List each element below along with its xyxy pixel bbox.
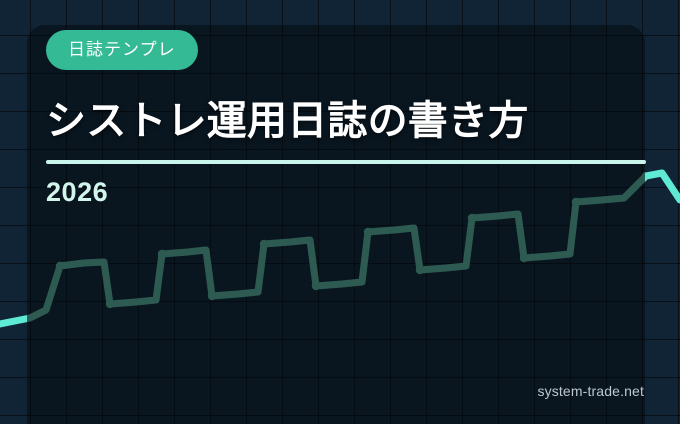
equity-vertex-marker [260, 240, 268, 248]
equity-vertex-marker [312, 282, 320, 290]
category-badge[interactable]: 日誌テンプレ [46, 30, 198, 70]
page-title: シストレ運用日誌の書き方 [46, 99, 646, 144]
equity-vertex-marker [208, 292, 216, 300]
equity-vertex-marker [106, 300, 114, 308]
year-label: 2026 [46, 179, 646, 206]
equity-vertex-marker [520, 254, 528, 262]
equity-vertex-marker [468, 214, 476, 222]
equity-vertex-marker [416, 266, 424, 274]
headline-block: 日誌テンプレ シストレ運用日誌の書き方 2026 [46, 30, 646, 206]
title-divider [46, 160, 646, 164]
equity-vertex-marker [158, 250, 166, 258]
site-watermark: system-trade.net [537, 383, 644, 399]
equity-vertex-marker [364, 228, 372, 236]
banner-canvas: 日誌テンプレ シストレ運用日誌の書き方 2026 system-trade.ne… [0, 0, 680, 424]
equity-vertex-marker [56, 262, 64, 270]
